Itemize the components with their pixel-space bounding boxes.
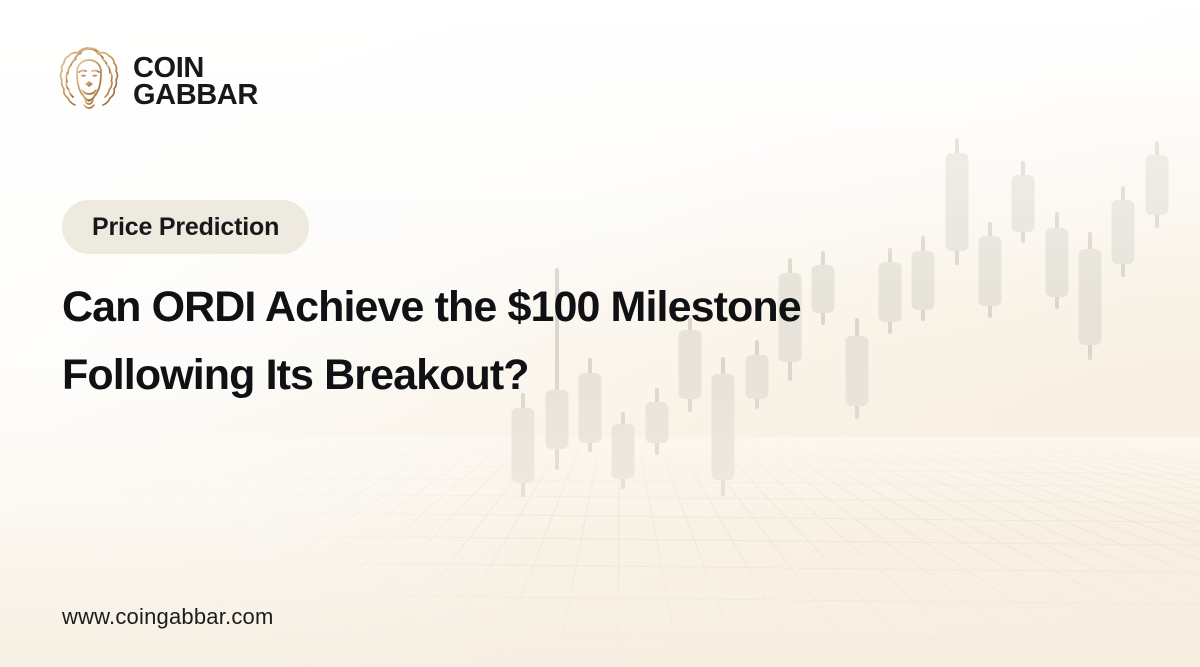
brand-name-line2: GABBAR: [133, 82, 258, 109]
headline: Can ORDI Achieve the $100 Milestone Foll…: [62, 273, 992, 409]
category-badge[interactable]: Price Prediction: [62, 200, 309, 254]
brand-wordmark: COIN GABBAR: [133, 53, 258, 108]
headline-line-2: Following Its Breakout?: [62, 341, 992, 409]
headline-line-1: Can ORDI Achieve the $100 Milestone: [62, 273, 992, 341]
site-url[interactable]: www.coingabbar.com: [62, 604, 273, 630]
brand-logo[interactable]: COIN GABBAR: [58, 44, 258, 118]
brand-name-line1: COIN: [133, 55, 258, 82]
category-badge-label: Price Prediction: [92, 213, 279, 242]
lion-head-icon: [58, 44, 120, 118]
promo-banner: COIN GABBAR Price Prediction Can ORDI Ac…: [0, 0, 1200, 667]
